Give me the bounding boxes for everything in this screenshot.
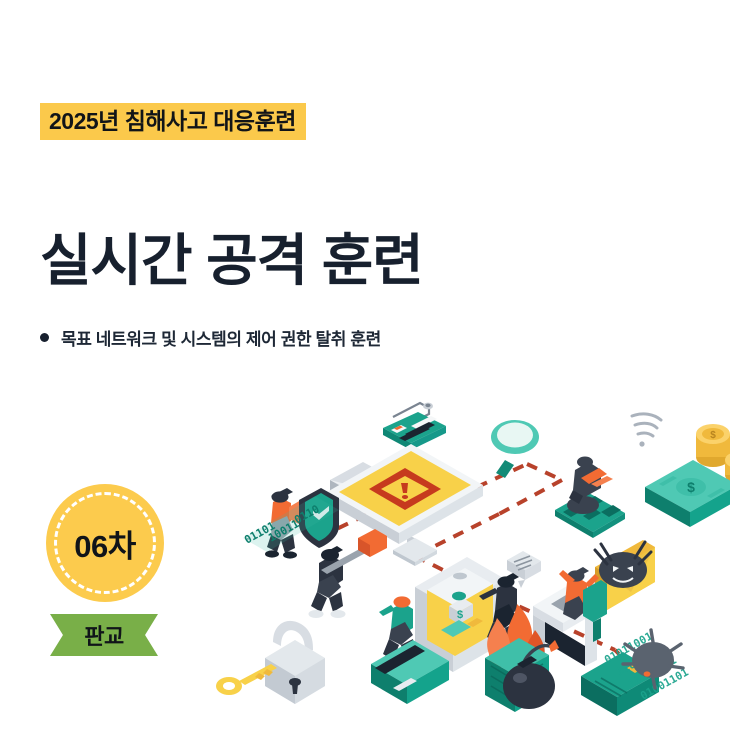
location-ribbon: 판교 (50, 614, 158, 656)
padlock-with-key (216, 621, 325, 704)
id-card-with-camera (383, 403, 446, 450)
round-badge-label: 06차 (74, 521, 136, 566)
svg-text:$: $ (687, 479, 695, 495)
cyber-attack-illustration: $ $ $ (215, 392, 730, 730)
slide-canvas: 2025년 침해사고 대응훈련 실시간 공격 훈련 목표 네트워크 및 시스템의… (0, 0, 730, 730)
wifi-signal-icon (632, 414, 661, 447)
svg-text:$: $ (710, 430, 716, 441)
svg-text:$: $ (457, 609, 463, 621)
bullet-text: 목표 네트워크 및 시스템의 제어 권한 탈취 훈련 (61, 325, 381, 350)
eyebrow-text: 2025년 침해사고 대응훈련 (40, 103, 306, 140)
coin-stack-tall: $ (696, 424, 730, 467)
money-stack-with-coins: $ $ $ (645, 424, 730, 527)
bullet-dot-icon (40, 333, 49, 342)
eyebrow-label: 2025년 침해사고 대응훈련 (40, 103, 306, 140)
bullet-item: 목표 네트워크 및 시스템의 제어 권한 탈취 훈련 (40, 325, 381, 350)
round-badge: 06차 (46, 484, 164, 602)
page-title: 실시간 공격 훈련 (40, 230, 423, 292)
warning-monitor (327, 444, 483, 566)
hacker-on-keyboard (555, 457, 625, 539)
location-ribbon-label: 판교 (84, 619, 123, 651)
